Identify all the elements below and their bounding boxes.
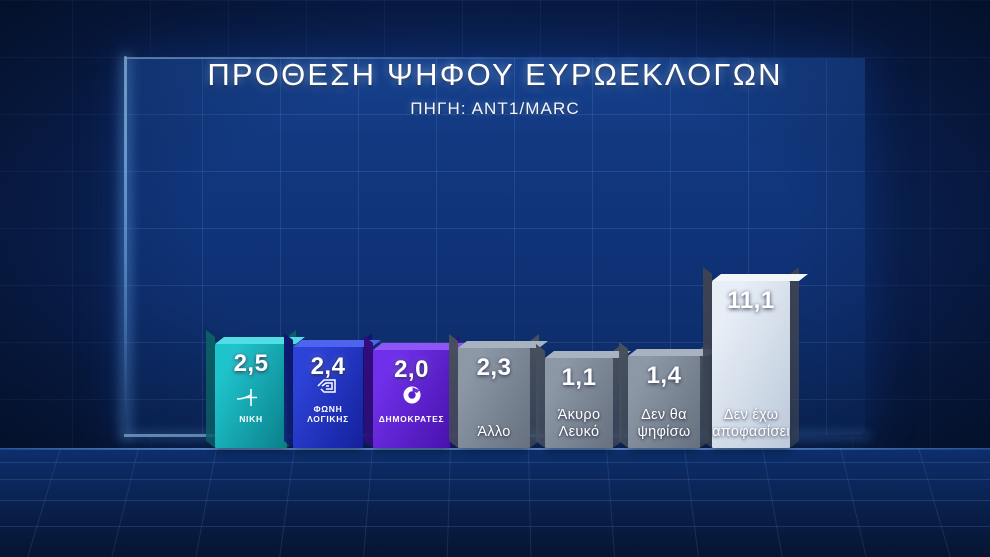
bar-value-label: 1,1: [545, 364, 613, 392]
bar-reflection: 2,5ΝΙΚΗ: [215, 448, 297, 543]
bar-body: 1,1ΆκυροΛευκό: [545, 358, 613, 448]
bar-Δεν θα ψηφίσω[interactable]: 1,4Δεν θαψηφίσω: [628, 356, 700, 448]
bar-right-face: [363, 448, 372, 462]
bar-body: 1,4Δεν θαψηφίσω: [628, 356, 700, 448]
bar-front-face: 11,1Δεν έχωαποφασίσει: [712, 281, 790, 448]
bar-value-label: 2,3: [458, 354, 530, 382]
bar-reflection: 1,1ΆκυροΛευκό: [545, 448, 623, 538]
bar-body: 11,1Δεν έχωαποφασίσει: [712, 281, 790, 448]
bar-front-face: 2,0ΔΗΜΟΚΡΑΤΕΣ: [373, 350, 450, 448]
bar-top-face: [293, 448, 373, 455]
bar-Άλλο[interactable]: 2,3Άλλο: [458, 348, 530, 448]
bar-right-face: [530, 448, 539, 462]
bar-top-face: [215, 448, 297, 455]
bar-Δεν έχω αποφασίσει[interactable]: 11,1Δεν έχωαποφασίσει: [712, 281, 790, 448]
bar-front-face: 1,4Δεν θαψηφίσω: [628, 356, 700, 448]
bar-top-face: [458, 341, 548, 348]
broadcast-graphic-stage: ΠΡΟΘΕΣΗ ΨΗΦΟΥ ΕΥΡΩΕΚΛΟΓΩΝ ΠΗΓΗ: ΑΝΤ1/MAR…: [0, 0, 990, 557]
bar-top-face: [628, 448, 710, 455]
bar-right-face: [790, 267, 799, 448]
bar-category-label: Δεν θαψηφίσω: [628, 407, 700, 441]
party-logo-dimokrates-ring-logo: ΔΗΜΟΚΡΑΤΕΣ: [373, 384, 450, 424]
bar-reflection: 2,3Άλλο: [458, 448, 540, 543]
dimokrates-ring-logo: [401, 384, 423, 411]
bar-left-face: [206, 330, 215, 448]
niki-cross-logo: [236, 389, 266, 411]
bar-left-face: [284, 333, 293, 448]
foni-logikis-spiral-logo: [315, 376, 341, 401]
bar-value-label: 2,5: [215, 350, 287, 378]
bar-top-face: [712, 448, 800, 455]
bar-category-label: ΆκυροΛευκό: [545, 407, 613, 441]
bar-ΝΙΚΗ[interactable]: 2,5ΝΙΚΗ: [215, 344, 287, 448]
bar-value-label: 1,4: [628, 362, 700, 390]
bar-body: 2,5ΝΙΚΗ: [215, 344, 287, 448]
bar-left-face: [536, 344, 545, 448]
bar-front-face: 1,1ΆκυροΛευκό: [545, 358, 613, 448]
bar-body: 2,0ΔΗΜΟΚΡΑΤΕΣ: [373, 350, 450, 448]
bar-front-face: 2,5ΝΙΚΗ: [215, 344, 287, 448]
bar-category-label: Άλλο: [458, 424, 530, 441]
bar-body: 2,4ΦΩΝΗ ΛΟΓΙΚΗΣ: [293, 347, 363, 448]
bar-reflection: 11,1Δεν έχωαποφασίσει: [712, 448, 800, 543]
bar-left-face: [364, 336, 373, 448]
bar-top-face: [545, 448, 623, 455]
bar-value-label: 11,1: [712, 287, 790, 315]
bar-reflection: 2,4ΦΩΝΗ ΛΟΓΙΚΗΣ: [293, 448, 373, 543]
bar-left-face: [619, 342, 628, 448]
bar-front-face: 2,4ΦΩΝΗ ΛΟΓΙΚΗΣ: [293, 347, 363, 448]
bar-reflection: 2,0ΔΗΜΟΚΡΑΤΕΣ: [373, 448, 460, 543]
bar-right-face: [700, 448, 709, 462]
party-name-label: ΝΙΚΗ: [239, 414, 263, 424]
bar-top-face: [712, 274, 808, 281]
bar-left-face: [449, 334, 458, 448]
bar-ΦΩΝΗ ΛΟΓΙΚΗΣ[interactable]: 2,4ΦΩΝΗ ΛΟΓΙΚΗΣ: [293, 347, 363, 448]
party-name-label: ΔΗΜΟΚΡΑΤΕΣ: [379, 414, 445, 424]
bar-category-label: Δεν έχωαποφασίσει: [712, 407, 790, 441]
bar-left-face: [703, 267, 712, 448]
bar-value-label: 2,0: [373, 356, 450, 384]
bar-right-face: [790, 448, 799, 462]
bar-top-face: [458, 448, 540, 455]
bar-reflection: 1,4Δεν θαψηφίσω: [628, 448, 710, 540]
bar-right-face: [613, 448, 622, 462]
bar-front-face: 2,3Άλλο: [458, 348, 530, 448]
party-logo-niki-cross-logo: ΝΙΚΗ: [215, 389, 287, 424]
party-logo-foni-logikis-spiral-logo: ΦΩΝΗ ΛΟΓΙΚΗΣ: [293, 376, 363, 424]
bar-chart: 2,5ΝΙΚΗ2,5ΝΙΚΗ2,4ΦΩΝΗ ΛΟΓΙΚΗΣ2,4ΦΩΝΗ ΛΟΓ…: [0, 0, 990, 557]
bar-Άκυρο Λευκό[interactable]: 1,1ΆκυροΛευκό: [545, 358, 613, 448]
party-name-label: ΦΩΝΗ ΛΟΓΙΚΗΣ: [293, 404, 363, 424]
bar-top-face: [373, 448, 460, 455]
bar-ΔΗΜΟΚΡΑΤΕΣ[interactable]: 2,0ΔΗΜΟΚΡΑΤΕΣ: [373, 350, 450, 448]
bar-body: 2,3Άλλο: [458, 348, 530, 448]
